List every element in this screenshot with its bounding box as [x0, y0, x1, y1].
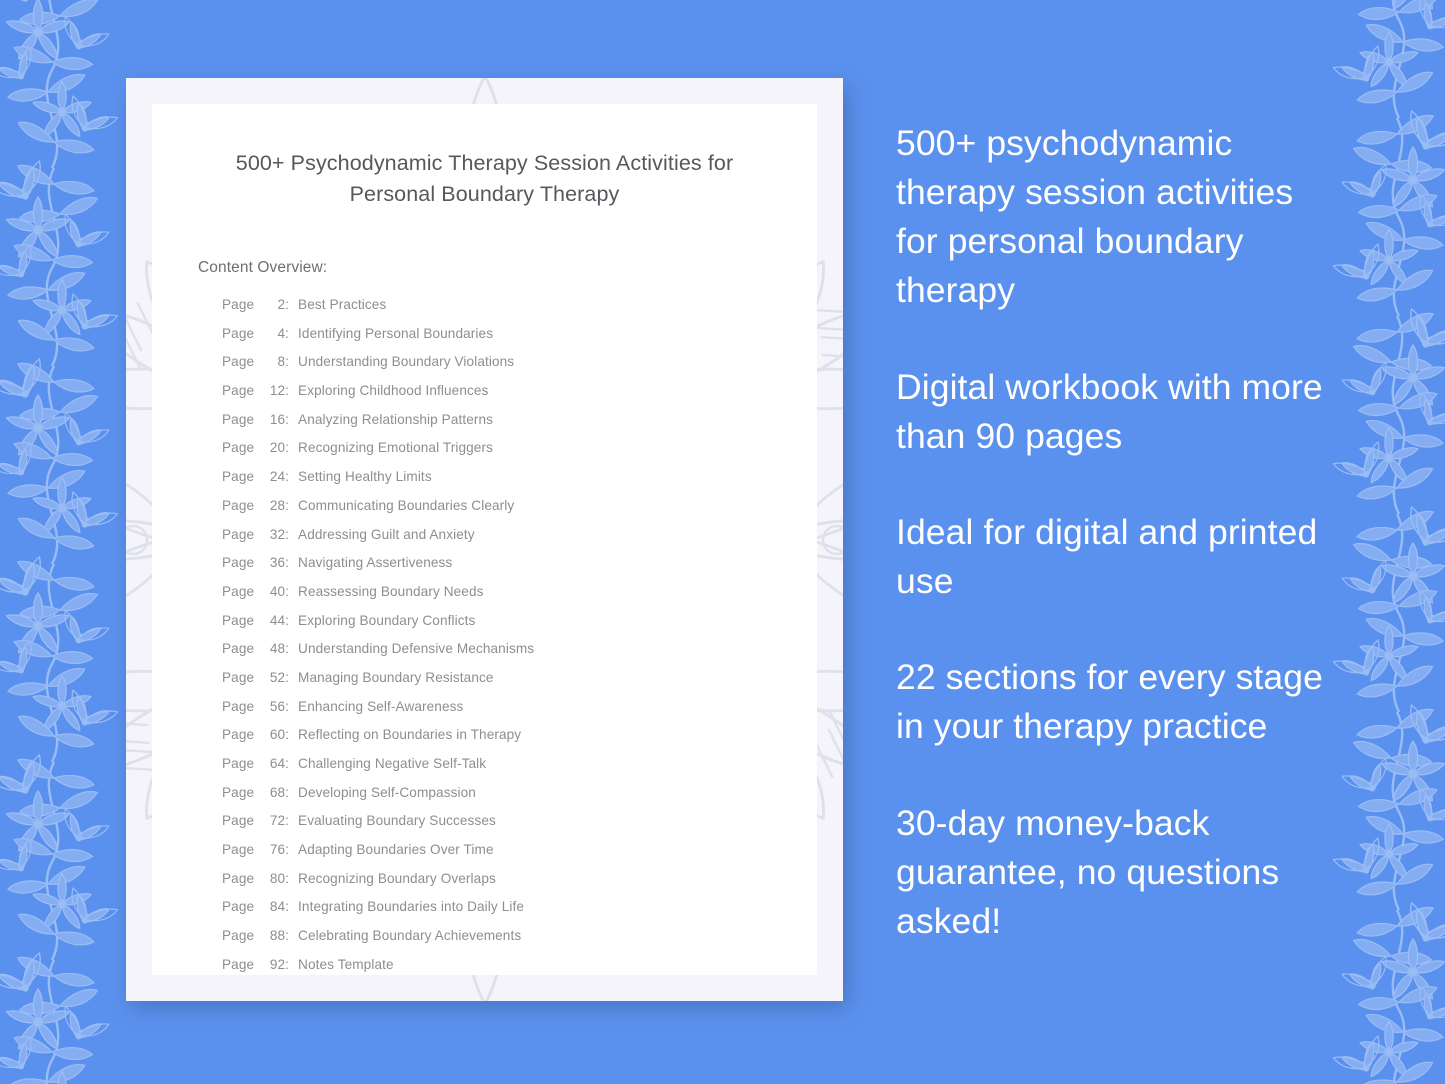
- promo-block-pages: Digital workbook with more than 90 pages: [896, 363, 1326, 461]
- page-word: Page: [222, 470, 254, 484]
- content-overview-label: Content Overview:: [198, 259, 771, 277]
- page-word: Page: [222, 671, 254, 685]
- page-number: 24: [259, 470, 285, 484]
- workbook-card: 500+ Psychodynamic Therapy Session Activ…: [126, 78, 843, 1001]
- page-word: Page: [222, 413, 254, 427]
- separator: :: [285, 900, 289, 914]
- section-title: Notes Template: [298, 958, 394, 972]
- list-item: Page 8 : Understanding Boundary Violatio…: [222, 355, 771, 369]
- page-word: Page: [222, 900, 254, 914]
- list-item: Page 4 : Identifying Personal Boundaries: [222, 327, 771, 341]
- workbook-page: 500+ Psychodynamic Therapy Session Activ…: [152, 104, 817, 975]
- section-title: Celebrating Boundary Achievements: [298, 929, 521, 943]
- page-word: Page: [222, 355, 254, 369]
- page-word: Page: [222, 814, 254, 828]
- page-title: 500+ Psychodynamic Therapy Session Activ…: [198, 148, 771, 209]
- section-title: Evaluating Boundary Successes: [298, 814, 496, 828]
- separator: :: [285, 298, 289, 312]
- separator: :: [285, 929, 289, 943]
- page-word: Page: [222, 872, 254, 886]
- floral-vine-border-right-icon: [1309, 0, 1445, 1084]
- separator: :: [285, 872, 289, 886]
- separator: :: [285, 700, 289, 714]
- page-word: Page: [222, 499, 254, 513]
- section-title: Adapting Boundaries Over Time: [298, 843, 494, 857]
- page-number: 2: [259, 298, 285, 312]
- page-number: 8: [259, 355, 285, 369]
- promo-copy: 500+ psychodynamic therapy session activ…: [896, 119, 1326, 946]
- page-number: 60: [259, 728, 285, 742]
- section-title: Addressing Guilt and Anxiety: [298, 528, 475, 542]
- separator: :: [285, 585, 289, 599]
- list-item: Page 2 : Best Practices: [222, 298, 771, 312]
- list-item: Page 52 : Managing Boundary Resistance: [222, 671, 771, 685]
- list-item: Page 20 : Recognizing Emotional Triggers: [222, 441, 771, 455]
- separator: :: [285, 786, 289, 800]
- page-word: Page: [222, 528, 254, 542]
- page-number: 28: [259, 499, 285, 513]
- page-word: Page: [222, 585, 254, 599]
- section-title: Integrating Boundaries into Daily Life: [298, 900, 524, 914]
- list-item: Page 60 : Reflecting on Boundaries in Th…: [222, 728, 771, 742]
- separator: :: [285, 958, 289, 972]
- page-word: Page: [222, 298, 254, 312]
- promo-block-sections: 22 sections for every stage in your ther…: [896, 653, 1326, 751]
- section-title: Best Practices: [298, 298, 386, 312]
- list-item: Page 28 : Communicating Boundaries Clear…: [222, 499, 771, 513]
- separator: :: [285, 355, 289, 369]
- separator: :: [285, 470, 289, 484]
- page-number: 56: [259, 700, 285, 714]
- page-number: 36: [259, 556, 285, 570]
- separator: :: [285, 499, 289, 513]
- section-title: Enhancing Self-Awareness: [298, 700, 463, 714]
- section-title: Setting Healthy Limits: [298, 470, 432, 484]
- page-number: 76: [259, 843, 285, 857]
- page-number: 52: [259, 671, 285, 685]
- separator: :: [285, 728, 289, 742]
- separator: :: [285, 528, 289, 542]
- page-word: Page: [222, 786, 254, 800]
- page-number: 72: [259, 814, 285, 828]
- list-item: Page 68 : Developing Self-Compassion: [222, 786, 771, 800]
- table-of-contents: Page 2 : Best Practices Page 4 : Identif…: [198, 298, 771, 971]
- list-item: Page 12 : Exploring Childhood Influences: [222, 384, 771, 398]
- section-title: Recognizing Emotional Triggers: [298, 441, 493, 455]
- separator: :: [285, 642, 289, 656]
- separator: :: [285, 671, 289, 685]
- list-item: Page 16 : Analyzing Relationship Pattern…: [222, 413, 771, 427]
- list-item: Page 72 : Evaluating Boundary Successes: [222, 814, 771, 828]
- list-item: Page 76 : Adapting Boundaries Over Time: [222, 843, 771, 857]
- list-item: Page 64 : Challenging Negative Self-Talk: [222, 757, 771, 771]
- separator: :: [285, 556, 289, 570]
- list-item: Page 40 : Reassessing Boundary Needs: [222, 585, 771, 599]
- page-word: Page: [222, 757, 254, 771]
- section-title: Challenging Negative Self-Talk: [298, 757, 486, 771]
- separator: :: [285, 614, 289, 628]
- section-title: Communicating Boundaries Clearly: [298, 499, 514, 513]
- section-title: Understanding Defensive Mechanisms: [298, 642, 534, 656]
- section-title: Identifying Personal Boundaries: [298, 327, 493, 341]
- page-word: Page: [222, 929, 254, 943]
- section-title: Developing Self-Compassion: [298, 786, 476, 800]
- page-word: Page: [222, 642, 254, 656]
- list-item: Page 44 : Exploring Boundary Conflicts: [222, 614, 771, 628]
- list-item: Page 84 : Integrating Boundaries into Da…: [222, 900, 771, 914]
- section-title: Managing Boundary Resistance: [298, 671, 494, 685]
- separator: :: [285, 757, 289, 771]
- separator: :: [285, 814, 289, 828]
- separator: :: [285, 384, 289, 398]
- list-item: Page 56 : Enhancing Self-Awareness: [222, 700, 771, 714]
- page-word: Page: [222, 614, 254, 628]
- page-word: Page: [222, 958, 254, 972]
- page-number: 68: [259, 786, 285, 800]
- list-item: Page 36 : Navigating Assertiveness: [222, 556, 771, 570]
- list-item: Page 32 : Addressing Guilt and Anxiety: [222, 528, 771, 542]
- page-number: 16: [259, 413, 285, 427]
- section-title: Exploring Boundary Conflicts: [298, 614, 475, 628]
- separator: :: [285, 441, 289, 455]
- list-item: Page 92 : Notes Template: [222, 958, 771, 972]
- separator: :: [285, 843, 289, 857]
- section-title: Reassessing Boundary Needs: [298, 585, 483, 599]
- page-number: 84: [259, 900, 285, 914]
- page-number: 44: [259, 614, 285, 628]
- list-item: Page 80 : Recognizing Boundary Overlaps: [222, 872, 771, 886]
- page-number: 40: [259, 585, 285, 599]
- page-word: Page: [222, 843, 254, 857]
- page-number: 64: [259, 757, 285, 771]
- page-word: Page: [222, 327, 254, 341]
- page-word: Page: [222, 556, 254, 570]
- section-title: Understanding Boundary Violations: [298, 355, 514, 369]
- floral-vine-border-left-icon: [0, 0, 142, 1084]
- section-title: Recognizing Boundary Overlaps: [298, 872, 496, 886]
- page-number: 92: [259, 958, 285, 972]
- section-title: Exploring Childhood Influences: [298, 384, 488, 398]
- section-title: Analyzing Relationship Patterns: [298, 413, 493, 427]
- page-word: Page: [222, 441, 254, 455]
- promo-block-headline: 500+ psychodynamic therapy session activ…: [896, 119, 1326, 316]
- list-item: Page 48 : Understanding Defensive Mechan…: [222, 642, 771, 656]
- promo-block-guarantee: 30-day money-back guarantee, no question…: [896, 799, 1326, 946]
- section-title: Reflecting on Boundaries in Therapy: [298, 728, 521, 742]
- page-word: Page: [222, 384, 254, 398]
- separator: :: [285, 327, 289, 341]
- separator: :: [285, 413, 289, 427]
- page-number: 20: [259, 441, 285, 455]
- page-number: 32: [259, 528, 285, 542]
- product-listing-canvas: 500+ Psychodynamic Therapy Session Activ…: [0, 0, 1445, 1084]
- page-number: 80: [259, 872, 285, 886]
- page-number: 4: [259, 327, 285, 341]
- page-number: 12: [259, 384, 285, 398]
- section-title: Navigating Assertiveness: [298, 556, 452, 570]
- list-item: Page 88 : Celebrating Boundary Achieveme…: [222, 929, 771, 943]
- promo-block-usage: Ideal for digital and printed use: [896, 508, 1326, 606]
- page-word: Page: [222, 700, 254, 714]
- list-item: Page 24 : Setting Healthy Limits: [222, 470, 771, 484]
- page-word: Page: [222, 728, 254, 742]
- page-number: 48: [259, 642, 285, 656]
- page-number: 88: [259, 929, 285, 943]
